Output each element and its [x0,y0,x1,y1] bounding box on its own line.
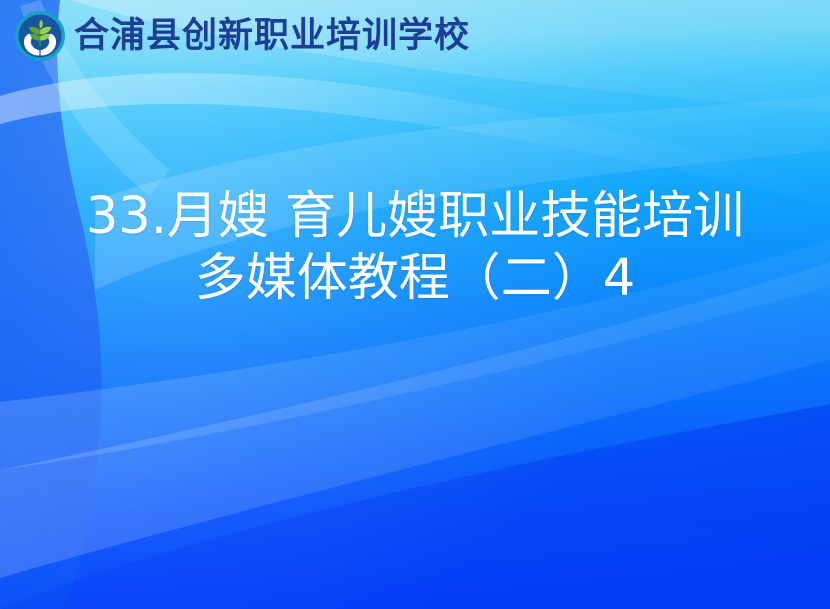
title-line-1: 33.月嫂 育儿嫂职业技能培训 [0,186,830,248]
title-line-2: 多媒体教程（二）4 [0,248,830,310]
slide-header: 合浦县创新职业培训学校 [0,0,830,72]
hands-holding-sprout-logo-icon [14,10,66,62]
organization-name: 合浦县创新职业培训学校 [74,19,470,54]
slide-title: 33.月嫂 育儿嫂职业技能培训 多媒体教程（二）4 [0,186,830,310]
presentation-slide: 合浦县创新职业培训学校 33.月嫂 育儿嫂职业技能培训 多媒体教程（二）4 [0,0,830,609]
